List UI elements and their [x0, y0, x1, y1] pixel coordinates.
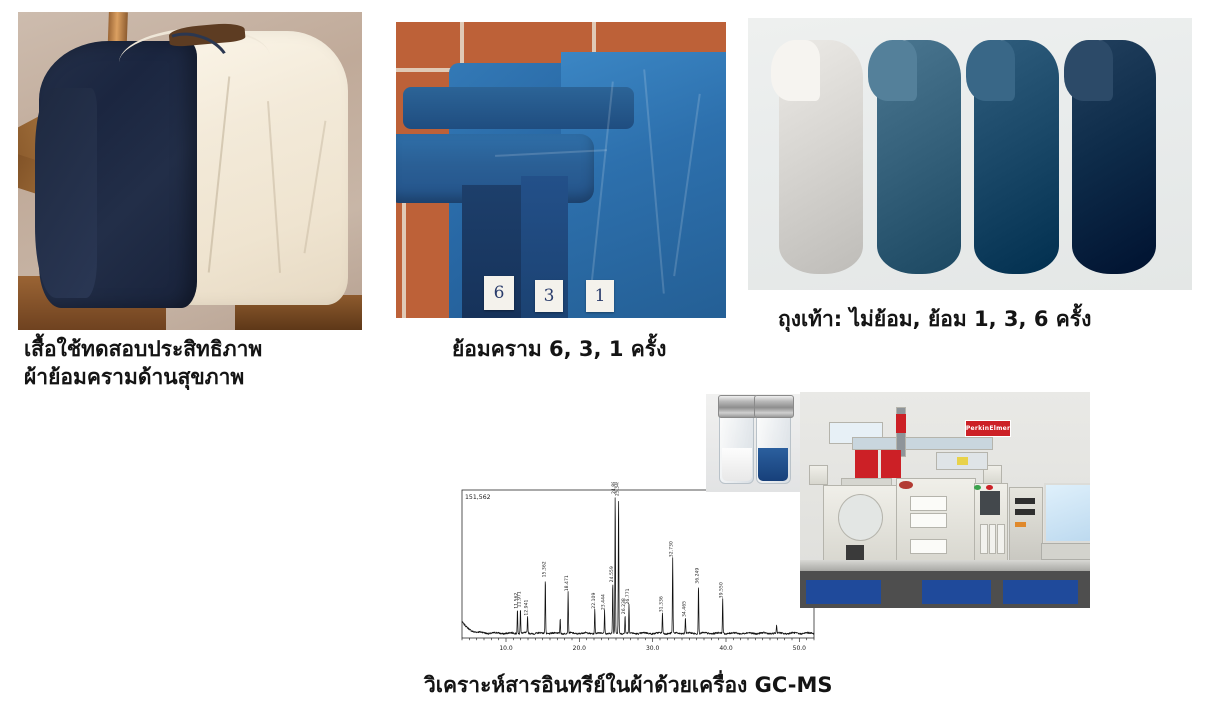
svg-text:31.336: 31.336 [658, 596, 664, 612]
svg-text:36.249: 36.249 [694, 568, 700, 584]
svg-text:34.465: 34.465 [681, 601, 687, 617]
svg-text:24.559: 24.559 [609, 566, 615, 582]
computer-keyboard [1041, 543, 1090, 560]
shirt-indigo-sleeve [35, 88, 97, 298]
sock-undyed [779, 40, 863, 274]
sock-dyed-3 [974, 40, 1058, 274]
gas-regulator-right [881, 450, 901, 478]
indicator-yellow [957, 457, 969, 466]
svg-text:25.349: 25.349 [615, 482, 621, 496]
wall-socket [809, 465, 828, 484]
svg-text:50.0: 50.0 [793, 645, 807, 652]
lab-bench-top [800, 560, 1090, 571]
svg-text:20.0: 20.0 [573, 645, 587, 652]
gc-vial-slot [997, 524, 1005, 554]
gc-control-screen [980, 491, 1000, 515]
chromatogram-plot: 151,56210.020.030.040.050.011.56211.9711… [452, 482, 818, 662]
floppy-drive [1015, 509, 1035, 515]
oven-label-3 [910, 539, 947, 554]
fabric-label-card-3: 3 [535, 280, 563, 312]
fabric-caption: ย้อมคราม 6, 3, 1 ครั้ง [452, 336, 666, 364]
fabric-label-card-6: 6 [484, 276, 514, 310]
gc-vial-slot [980, 524, 988, 554]
svg-text:15.362: 15.362 [541, 561, 547, 577]
fabric-label-card-1: 1 [586, 280, 614, 312]
slide-canvas: เสื้อใช้ทดสอบประสิทธิภาพ ผ้าย้อมครามด้าน… [0, 0, 1212, 717]
sample-vials-photo [706, 394, 802, 492]
shirt-caption-line1: เสื้อใช้ทดสอบประสิทธิภาพ [24, 336, 262, 364]
svg-text:32.730: 32.730 [669, 541, 675, 557]
sock-dyed-1 [877, 40, 961, 274]
autosampler-rail [852, 437, 993, 450]
ms-display [846, 545, 863, 560]
power-indicator [1015, 522, 1027, 527]
vial-blue-powder [756, 410, 791, 485]
autosampler-head [896, 414, 906, 433]
oven-label-1 [910, 496, 947, 511]
indigo-dyed-shirt-photo [18, 12, 362, 330]
fabric-top-band [403, 87, 634, 128]
socks-caption: ถุงเท้า: ไม่ย้อม, ย้อม 1, 3, 6 ครั้ง [778, 306, 1091, 334]
svg-text:12.941: 12.941 [524, 599, 530, 615]
bench-drawer [1003, 580, 1078, 604]
optical-drive [1015, 498, 1035, 504]
svg-text:22.109: 22.109 [591, 593, 597, 609]
gc-vial-slot [989, 524, 997, 554]
svg-text:40.0: 40.0 [719, 645, 733, 652]
svg-text:18.471: 18.471 [564, 575, 570, 591]
svg-text:10.0: 10.0 [499, 645, 513, 652]
dyed-socks-photo [748, 18, 1192, 290]
gcms-caption: วิเคราะห์สารอินทรีย์ในผ้าด้วยเครื่อง GC-… [424, 672, 833, 700]
sock-dyed-6 [1072, 40, 1156, 274]
svg-text:30.0: 30.0 [646, 645, 660, 652]
svg-text:39.550: 39.550 [719, 582, 725, 598]
computer-monitor [1044, 483, 1090, 543]
vial-contents-white [722, 448, 752, 481]
vial-cap [754, 395, 794, 419]
vial-white-powder [719, 410, 754, 485]
svg-text:23.444: 23.444 [601, 594, 607, 610]
bench-drawer [806, 580, 881, 604]
shirt-caption: เสื้อใช้ทดสอบประสิทธิภาพ ผ้าย้อมครามด้าน… [24, 336, 262, 391]
instrument-brand-label: PerkinElmer [965, 420, 1011, 437]
gc-ms-instrument-photo: PerkinElmer [800, 392, 1090, 608]
gc-ms-chromatogram: 151,56210.020.030.040.050.011.56211.9711… [452, 482, 818, 662]
oven-handle [899, 481, 914, 490]
ms-vacuum-port [838, 494, 884, 541]
svg-text:26.771: 26.771 [625, 588, 631, 604]
indigo-dyed-fabric-photo: 6 3 1 [396, 22, 726, 318]
oven-label-2 [910, 513, 947, 528]
svg-text:11.971: 11.971 [516, 591, 522, 607]
gas-regulator-left [855, 450, 878, 478]
vial-cap [718, 395, 758, 419]
vial-contents-blue [758, 448, 788, 481]
shirt-caption-line2: ผ้าย้อมครามด้านสุขภาพ [24, 364, 262, 392]
svg-text:151,562: 151,562 [465, 494, 491, 501]
bench-drawer [922, 580, 992, 604]
